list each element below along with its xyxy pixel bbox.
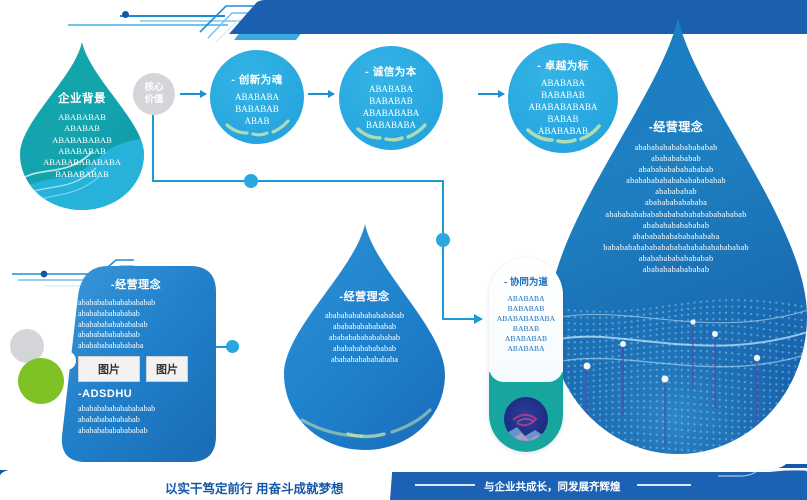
value-circle-2-lines: ABABABABABABABABABABABABABABABA xyxy=(338,84,444,132)
center-drop-line: abababababababab xyxy=(282,343,447,354)
capsule-text-block: - 协同为道 ABABABABABABABABABABABABABABABABA… xyxy=(489,274,563,354)
footer-right-slogan: 与企业共成长，同发展齐辉煌 xyxy=(484,479,621,494)
center-drop-title: -经营理念 xyxy=(282,288,447,304)
value-circle-2-line: BABABAB xyxy=(338,96,444,108)
footer-banner xyxy=(0,462,807,500)
footer-left-slogan: 以实干笃定前行 用奋斗成就梦想 xyxy=(165,478,343,497)
arrow-circle-2-to-3 xyxy=(478,93,504,95)
white-decoration-circle xyxy=(57,351,76,370)
capsule-title: - 协同为道 xyxy=(489,274,563,288)
image-placeholder-2[interactable]: 图片 xyxy=(146,356,188,382)
left-card-bottom-line: abababababababababab xyxy=(78,404,214,415)
value-circle-1-title: - 创新为魂 xyxy=(209,72,305,87)
value-circle-3-line: ABABABABABA xyxy=(507,102,619,114)
left-card-bottom-line: abababababababab xyxy=(78,415,214,426)
enterprise-drop-line: ABABABAB xyxy=(18,146,146,157)
core-value-line-1: 核心 xyxy=(144,82,163,94)
capsule-line: ABABABA xyxy=(489,344,563,354)
value-circle-2-title: - 诚信为本 xyxy=(338,64,444,79)
core-value-line-2: 价值 xyxy=(144,94,163,106)
value-circle-2[interactable]: - 诚信为本 ABABABABABABABABABABABABABABABA xyxy=(338,45,444,151)
center-drop-line: abababababababababab xyxy=(282,310,447,321)
value-circle-1-lines: ABABABABABABABABAB xyxy=(209,92,305,128)
enterprise-drop-line: BABABABAB xyxy=(18,169,146,180)
value-circle-1-line: BABABAB xyxy=(209,104,305,116)
big-drop-line: abababababababab xyxy=(556,220,796,231)
left-card-lines-top: abababababababababababababababababababab… xyxy=(56,298,216,352)
enterprise-drop-title: 企业背景 xyxy=(18,90,146,106)
value-circle-1-line: ABABABA xyxy=(209,92,305,104)
value-circle-1[interactable]: - 创新为魂 ABABABABABABABABAB xyxy=(209,49,305,145)
top-accent-dot xyxy=(122,11,129,18)
center-drop-line: ababababababababa xyxy=(282,354,447,365)
enterprise-drop-lines: ABABABABABABABABABABABABABABABABABABABAB… xyxy=(18,112,146,180)
infographic-canvas: -经营理念 ababababababababababababababababab… xyxy=(0,0,807,500)
connector-dot-mid xyxy=(244,174,258,188)
big-drop-line: ababababababababab xyxy=(556,164,796,175)
arrow-core-to-circle-1 xyxy=(180,93,206,95)
center-drop-lines: abababababababababababababababababababab… xyxy=(282,310,447,365)
value-circle-3-title: - 卓越为标 xyxy=(507,58,619,73)
connector-arrowhead-capsule xyxy=(474,312,488,326)
left-card-image-row: 图片 图片 xyxy=(78,356,198,382)
left-card-title: -经营理念 xyxy=(56,276,216,292)
left-card[interactable]: -经营理念 ababababababababababababababababab… xyxy=(56,266,216,462)
big-drop-line: ababababababababababa xyxy=(556,231,796,242)
footer-rule-right xyxy=(637,484,691,486)
big-drop-line: ababababababababababababababababab xyxy=(556,209,796,220)
value-circle-3-line: ABABABAB xyxy=(507,126,619,138)
value-circle-3-line: ABABABA xyxy=(507,78,619,90)
capsule-line: ABABABA xyxy=(489,294,563,304)
left-card-top-line: abababababababababab xyxy=(78,298,216,309)
left-card-top-line: abababababababab xyxy=(78,309,216,320)
center-drop-line: ababababababababab xyxy=(282,332,447,343)
big-drop-line: ababababab xyxy=(556,186,796,197)
value-circle-3-line: BABABAB xyxy=(507,90,619,102)
capsule-lines: ABABABABABABABABABABABABABABABABABABABAB… xyxy=(489,294,563,354)
center-drop-text-block: -经营理念 ababababababababababababababababab… xyxy=(282,288,447,365)
big-drop-line: abababababababababababab xyxy=(556,175,796,186)
value-circle-3-lines: ABABABABABABABABABABABABABABABABABABAB xyxy=(507,78,619,137)
value-circle-2-line: ABABABA xyxy=(338,84,444,96)
left-card-lines-bottom: abababababababababababababababababababab… xyxy=(78,404,214,436)
center-drop-line: abababababababab xyxy=(282,321,447,332)
connector-horizontal-main xyxy=(152,180,444,182)
enterprise-drop-line: ABABABAB xyxy=(18,112,146,123)
core-value-badge[interactable]: 核心 价值 xyxy=(133,73,175,115)
value-circle-3[interactable]: - 卓越为标 ABABABABABABABABABABABABABABABABA… xyxy=(507,42,619,154)
left-card-bottom-line: ababababababababab xyxy=(78,426,214,437)
capsule-line: ABABABAB xyxy=(489,334,563,344)
connector-vertical-left xyxy=(152,115,154,182)
value-circle-2-line: BABABABA xyxy=(338,120,444,132)
left-card-top-line: abababababababab xyxy=(78,330,216,341)
value-circle-1-line: ABAB xyxy=(209,116,305,128)
big-drop-lines: abababababababababababababababababababab… xyxy=(556,142,796,275)
big-drop-line: bababababababababababababababababab xyxy=(556,242,796,253)
big-drop-line: abababababab xyxy=(556,153,796,164)
capsule-line: BABABAB xyxy=(489,304,563,314)
enterprise-drop-line: ABABABABAB xyxy=(18,135,146,146)
capsule-photo-circle xyxy=(503,396,549,442)
big-drop-line: ababababababababab xyxy=(556,253,796,264)
capsule-line: ABABABABABA xyxy=(489,314,563,324)
arrow-circle-1-to-2 xyxy=(308,93,334,95)
left-card-top-line: ababababababababa xyxy=(78,341,216,352)
footer-rule-left xyxy=(415,484,475,486)
left-card-top-line: ababababababababab xyxy=(78,320,216,331)
image-placeholder-1[interactable]: 图片 xyxy=(78,356,140,382)
big-drop-line: abababababababa xyxy=(556,197,796,208)
enterprise-drop-text-block: 企业背景 ABABABABABABABABABABABABABABABABABA… xyxy=(18,90,146,180)
big-drop-line: abababababababab xyxy=(556,264,796,275)
left-card-subtitle: -ADSDHU xyxy=(78,388,214,400)
synergy-capsule[interactable]: - 协同为道 ABABABABABABABABABABABABABABABABA… xyxy=(489,258,563,452)
enterprise-drop-line: ABABABABABABA xyxy=(18,157,146,168)
value-circle-3-line: BABAB xyxy=(507,114,619,126)
enterprise-drop-line: ABABAB xyxy=(18,123,146,134)
value-circle-2-line: ABABABABA xyxy=(338,108,444,120)
capsule-line: BABAB xyxy=(489,324,563,334)
